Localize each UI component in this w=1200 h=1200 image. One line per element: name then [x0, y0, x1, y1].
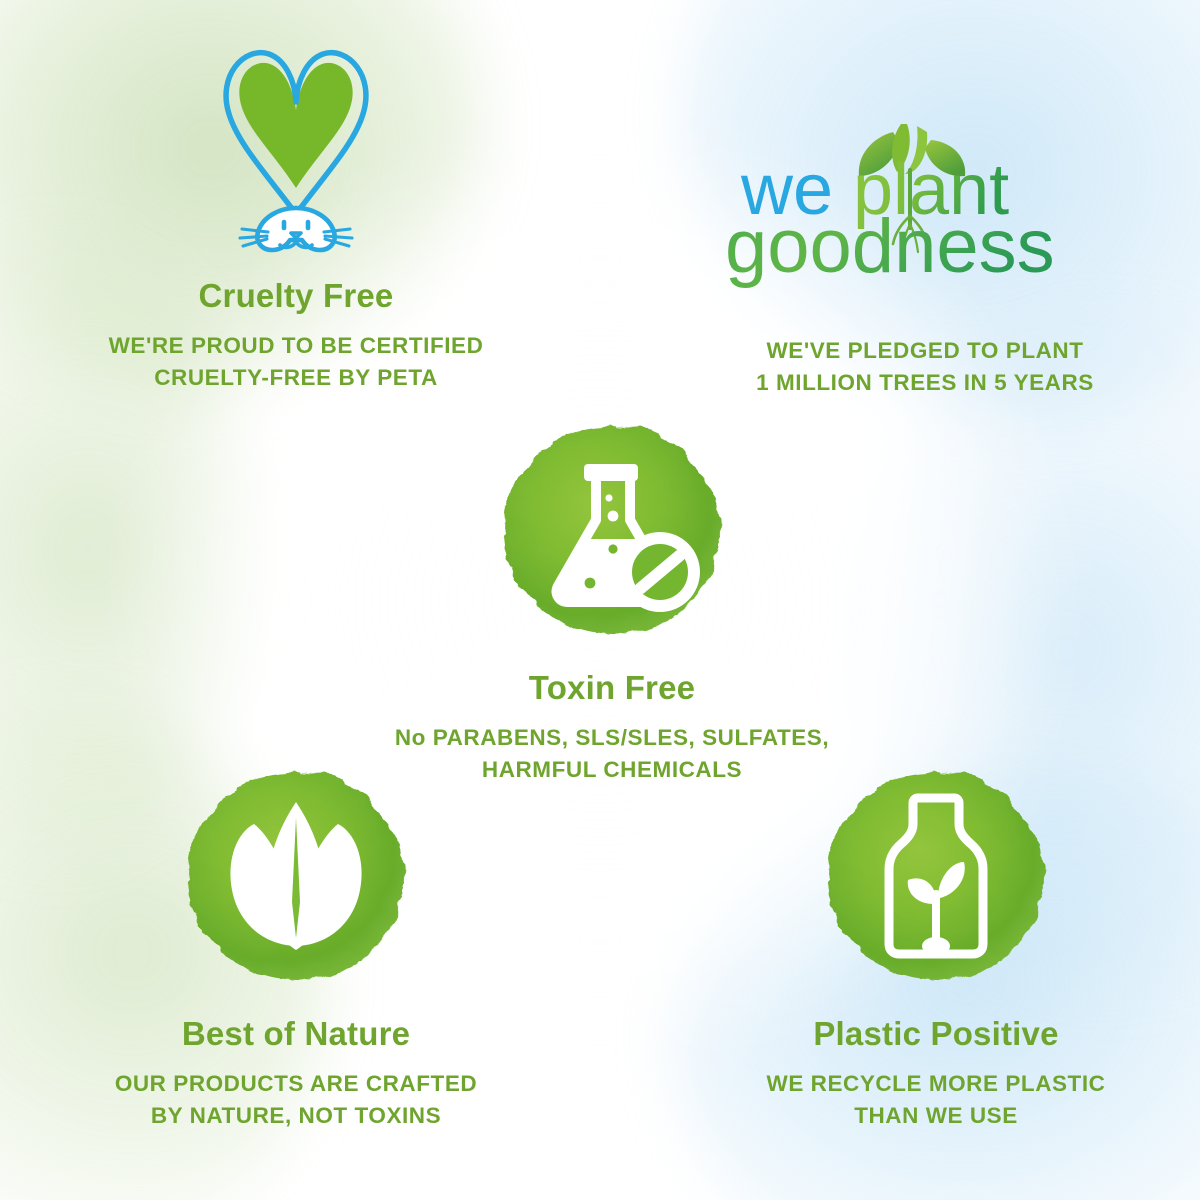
best-of-nature-icon-blob — [176, 762, 416, 994]
badge-plastic-positive: Plastic Positive WE RECYCLE MORE PLASTIC… — [676, 762, 1196, 1132]
badge-we-plant-goodness: we plant goodness WE'VE PLEDGED TO PLANT… — [690, 120, 1160, 399]
badge-title-best-of-nature: Best of Nature — [36, 1016, 556, 1052]
bottle-sprout-icon — [816, 762, 1056, 994]
infographic-canvas: Cruelty Free WE'RE PROUD TO BE CERTIFIED… — [0, 0, 1200, 1200]
badge-toxin-free: Toxin Free No PARABENS, SLS/SLES, SULFAT… — [312, 416, 912, 786]
badge-title-plastic-positive: Plastic Positive — [676, 1016, 1196, 1052]
badge-best-of-nature: Best of Nature OUR PRODUCTS ARE CRAFTED … — [36, 762, 556, 1132]
flask-no-toxins-icon — [492, 416, 732, 648]
badge-title-toxin-free: Toxin Free — [312, 670, 912, 706]
we-plant-goodness-logo: we plant goodness — [690, 120, 1160, 295]
toxin-free-icon-blob — [492, 416, 732, 648]
badge-desc-cruelty-free: WE'RE PROUD TO BE CERTIFIED CRUELTY-FREE… — [36, 330, 556, 394]
badge-desc-plastic-positive: WE RECYCLE MORE PLASTIC THAN WE USE — [676, 1068, 1196, 1132]
three-leaves-icon — [176, 762, 416, 994]
badge-desc-we-plant-goodness: WE'VE PLEDGED TO PLANT 1 MILLION TREES I… — [690, 335, 1160, 399]
badge-cruelty-free: Cruelty Free WE'RE PROUD TO BE CERTIFIED… — [36, 36, 556, 394]
plastic-positive-icon-blob — [816, 762, 1056, 994]
peta-bunny-heart-icon — [36, 36, 556, 256]
logo-word-goodness: goodness — [725, 204, 1055, 289]
badge-desc-best-of-nature: OUR PRODUCTS ARE CRAFTED BY NATURE, NOT … — [36, 1068, 556, 1132]
badge-title-cruelty-free: Cruelty Free — [36, 278, 556, 314]
